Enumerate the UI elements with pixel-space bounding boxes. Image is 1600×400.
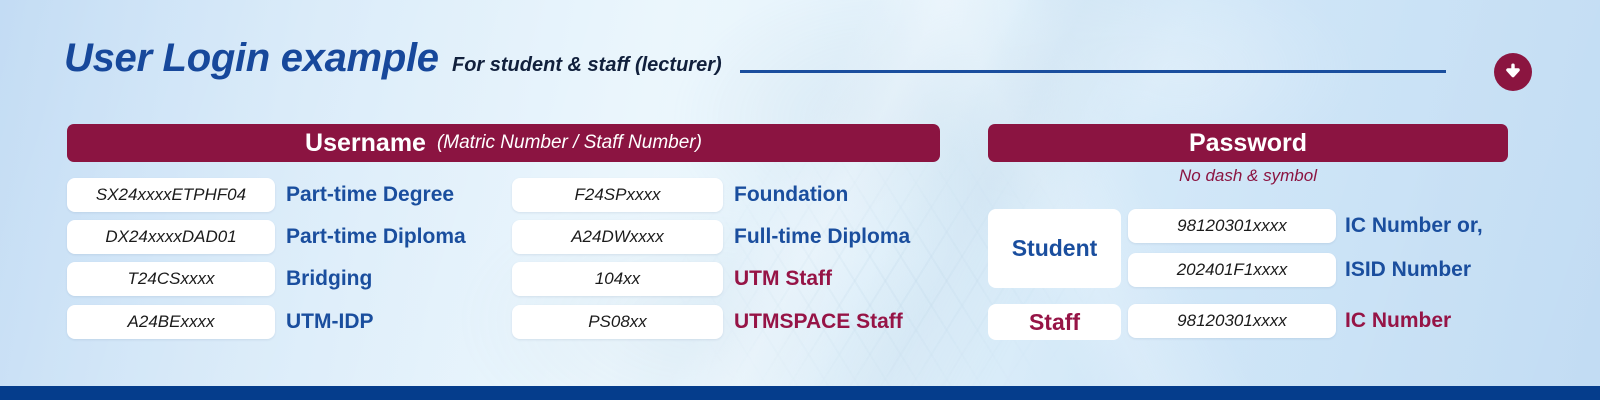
username-example-label: Part-time Diploma — [286, 220, 466, 254]
username-example-value: A24DWxxxx — [512, 220, 723, 254]
username-example-label: Foundation — [734, 178, 848, 212]
banner-header: User Login example For student & staff (… — [0, 36, 1600, 108]
username-example-label: UTM Staff — [734, 262, 832, 296]
arrow-down-circle-icon[interactable] — [1494, 53, 1532, 91]
password-example-label: ISID Number — [1345, 253, 1471, 287]
username-heading: Username — [305, 129, 426, 158]
username-header-bar: Username (Matric Number / Staff Number) — [67, 124, 940, 162]
section-header-bars: Username (Matric Number / Staff Number) … — [0, 124, 1600, 162]
username-example-value: 104xx — [512, 262, 723, 296]
login-example-banner: User Login example For student & staff (… — [0, 0, 1600, 400]
password-example-value: 202401F1xxxx — [1128, 253, 1336, 287]
username-example-value: F24SPxxxx — [512, 178, 723, 212]
username-example-value: A24BExxxx — [67, 305, 275, 339]
username-example-label: Part-time Degree — [286, 178, 454, 212]
password-role-staff: Staff — [988, 304, 1121, 340]
username-heading-note: (Matric Number / Staff Number) — [437, 132, 702, 154]
password-example-value: 98120301xxxx — [1128, 209, 1336, 243]
username-example-label: UTMSPACE Staff — [734, 305, 903, 339]
username-example-label: UTM-IDP — [286, 305, 374, 339]
username-example-label: Full-time Diploma — [734, 220, 910, 254]
page-title: User Login example — [64, 36, 439, 81]
footer-bar — [0, 386, 1600, 400]
username-example-value: DX24xxxxDAD01 — [67, 220, 275, 254]
username-example-value: PS08xx — [512, 305, 723, 339]
header-divider-line — [740, 70, 1446, 73]
password-note: No dash & symbol — [988, 166, 1508, 186]
password-example-label: IC Number — [1345, 304, 1451, 338]
page-subtitle: For student & staff (lecturer) — [452, 54, 722, 77]
password-example-label: IC Number or, — [1345, 209, 1483, 243]
username-example-value: T24CSxxxx — [67, 262, 275, 296]
password-role-student: Student — [988, 209, 1121, 288]
username-example-value: SX24xxxxETPHF04 — [67, 178, 275, 212]
password-heading: Password — [1189, 129, 1307, 158]
password-example-value: 98120301xxxx — [1128, 304, 1336, 338]
password-header-bar: Password — [988, 124, 1508, 162]
username-example-label: Bridging — [286, 262, 372, 296]
